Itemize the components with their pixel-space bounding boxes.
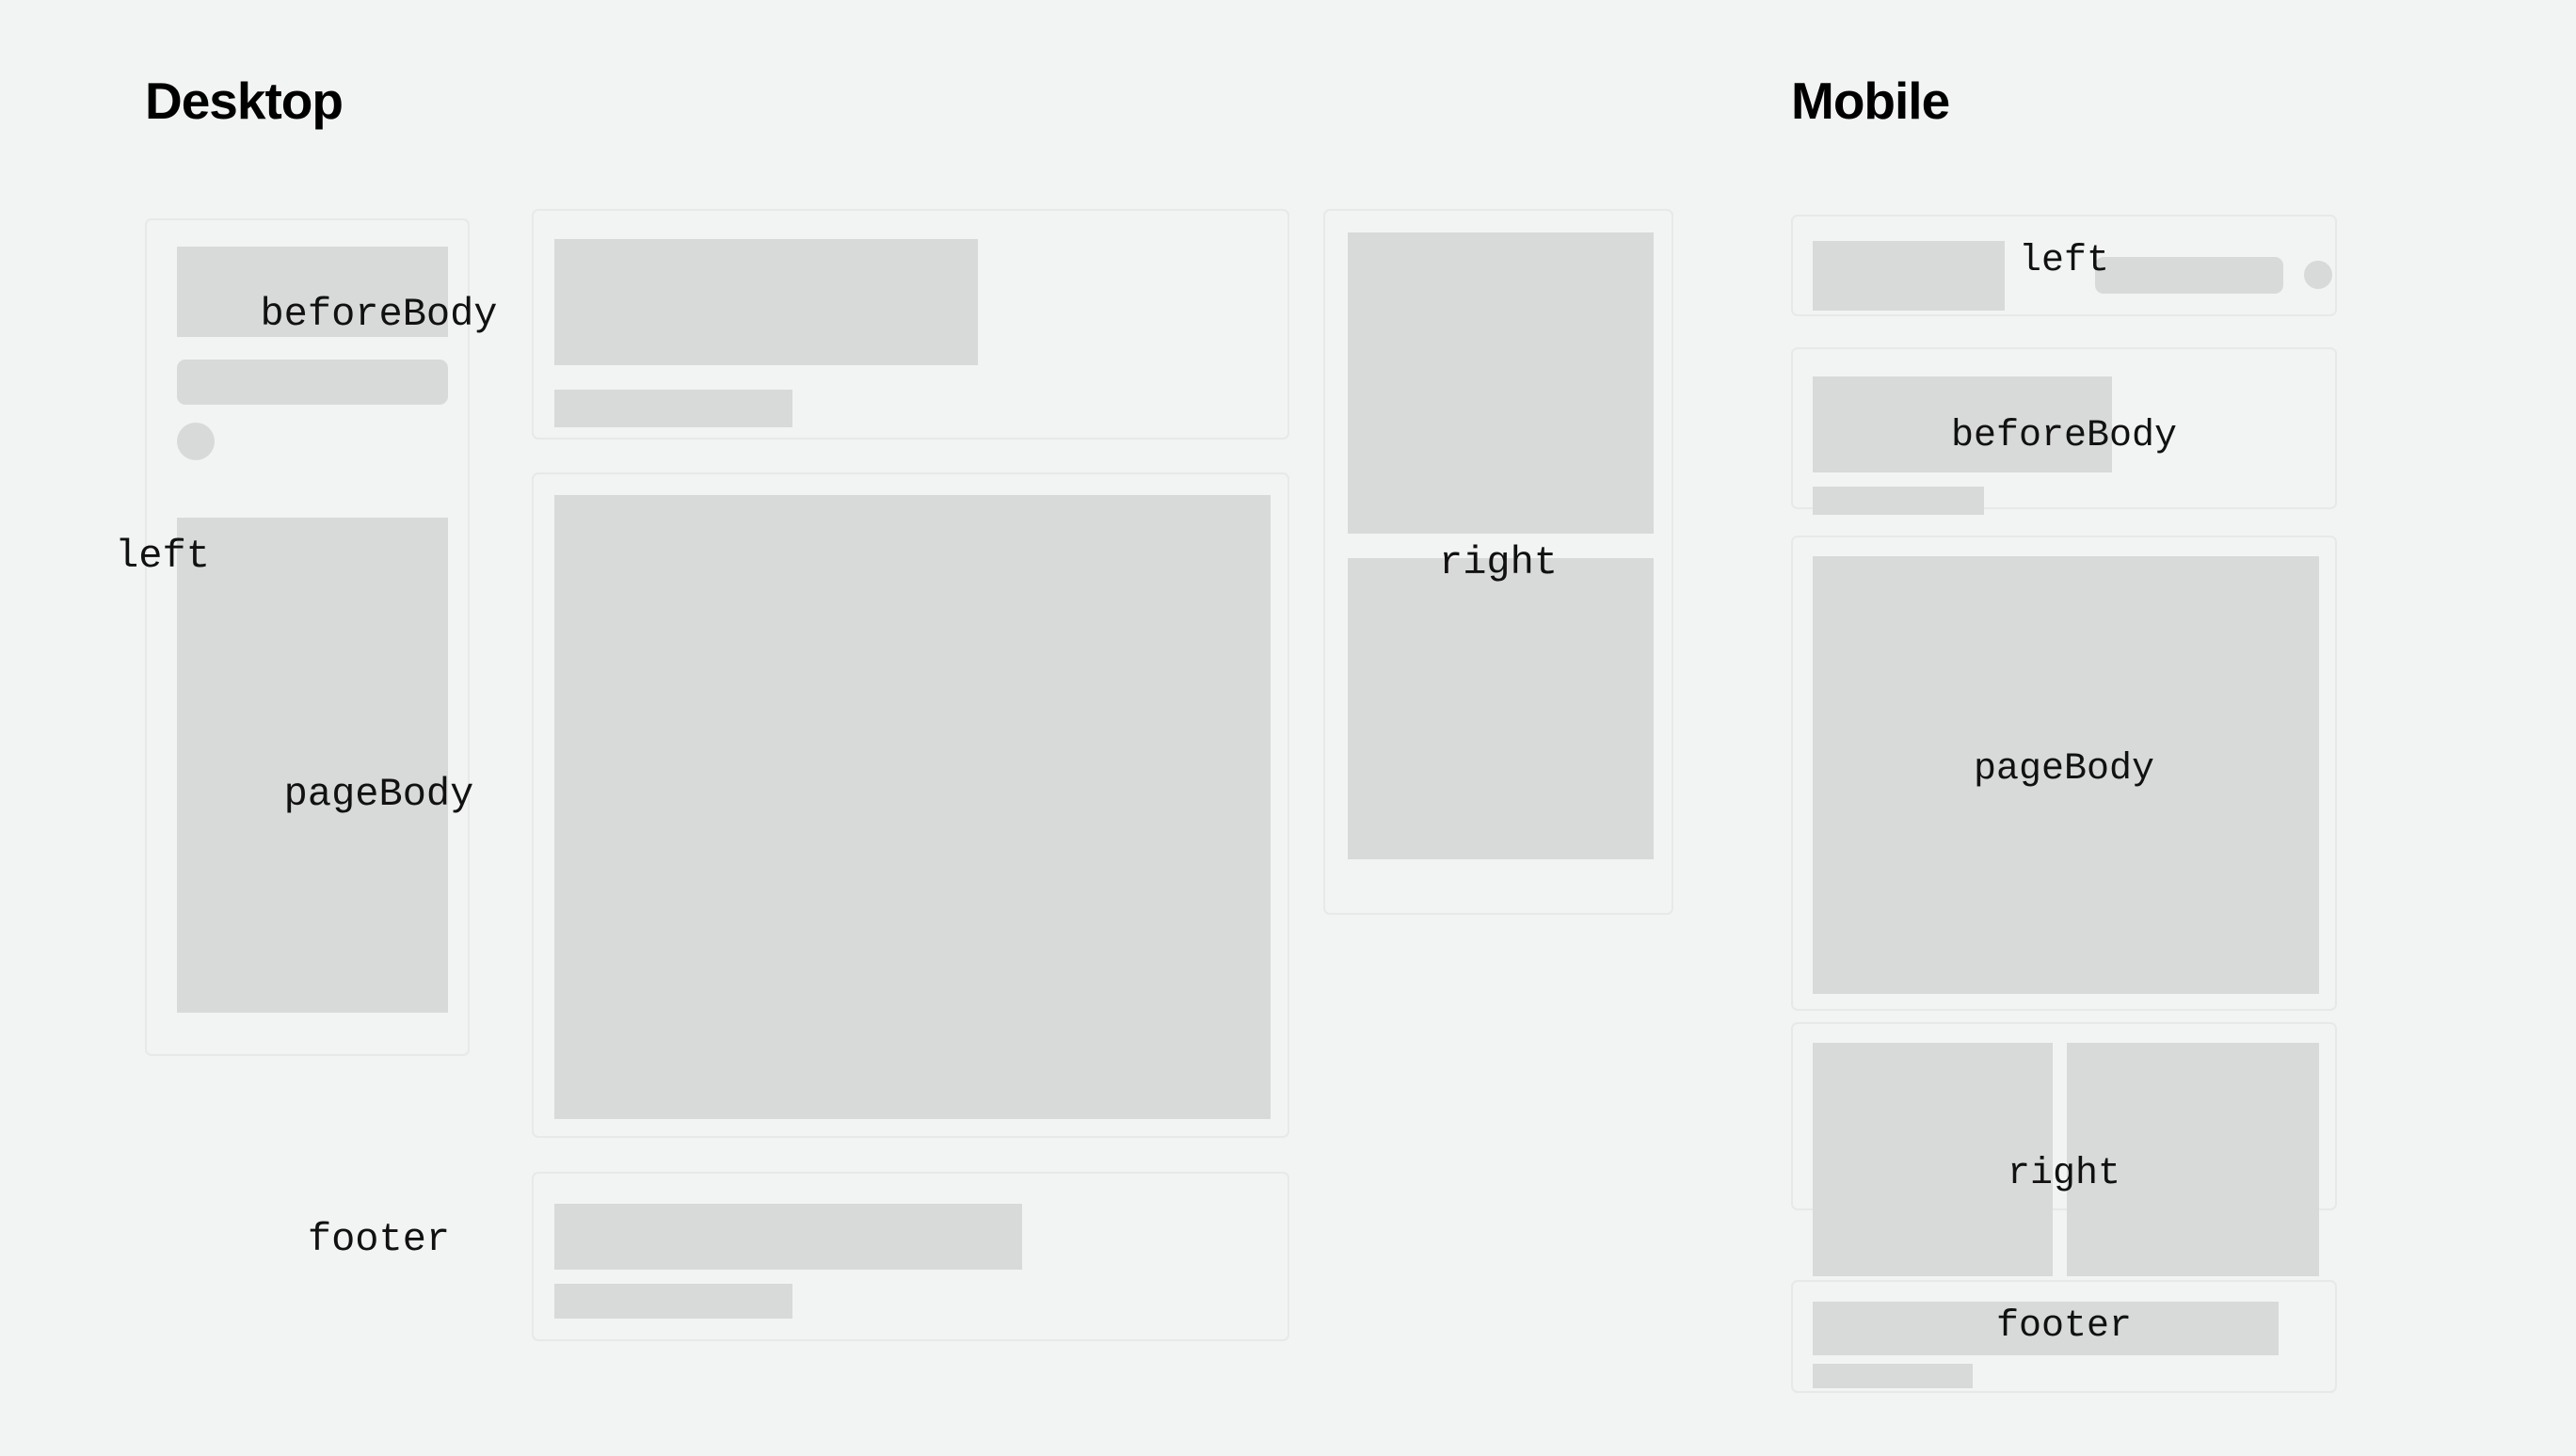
desktop-section-title: Desktop (145, 75, 343, 127)
mobile-pagebody-slot-label: pageBody (1791, 751, 2337, 789)
skeleton-block-small (1813, 487, 1984, 515)
skeleton-block-tall (177, 518, 448, 1013)
desktop-beforebody-slot-label: beforeBody (0, 295, 758, 334)
mobile-left-slot-label: left (1791, 243, 2337, 280)
skeleton-block-bottom (1348, 558, 1654, 859)
skeleton-block-small (1813, 1364, 1973, 1388)
mobile-right-slot-label: right (1791, 1156, 2337, 1193)
skeleton-block-small (554, 390, 792, 427)
desktop-left-region-card[interactable] (145, 218, 470, 1056)
desktop-pagebody-slot-label: pageBody (0, 775, 758, 814)
desktop-footer-slot-label: footer (0, 1220, 758, 1259)
skeleton-block-small (554, 1284, 792, 1319)
skeleton-block-top (1348, 232, 1654, 534)
desktop-right-slot-label: right (1323, 543, 1673, 583)
mobile-section-title: Mobile (1791, 75, 1949, 127)
skeleton-block-bar (177, 360, 448, 405)
mobile-footer-slot-label: footer (1791, 1308, 2337, 1346)
mobile-beforebody-slot-label: beforeBody (1791, 418, 2337, 456)
desktop-left-slot-label: left (0, 536, 325, 576)
skeleton-avatar-dot (177, 423, 215, 460)
